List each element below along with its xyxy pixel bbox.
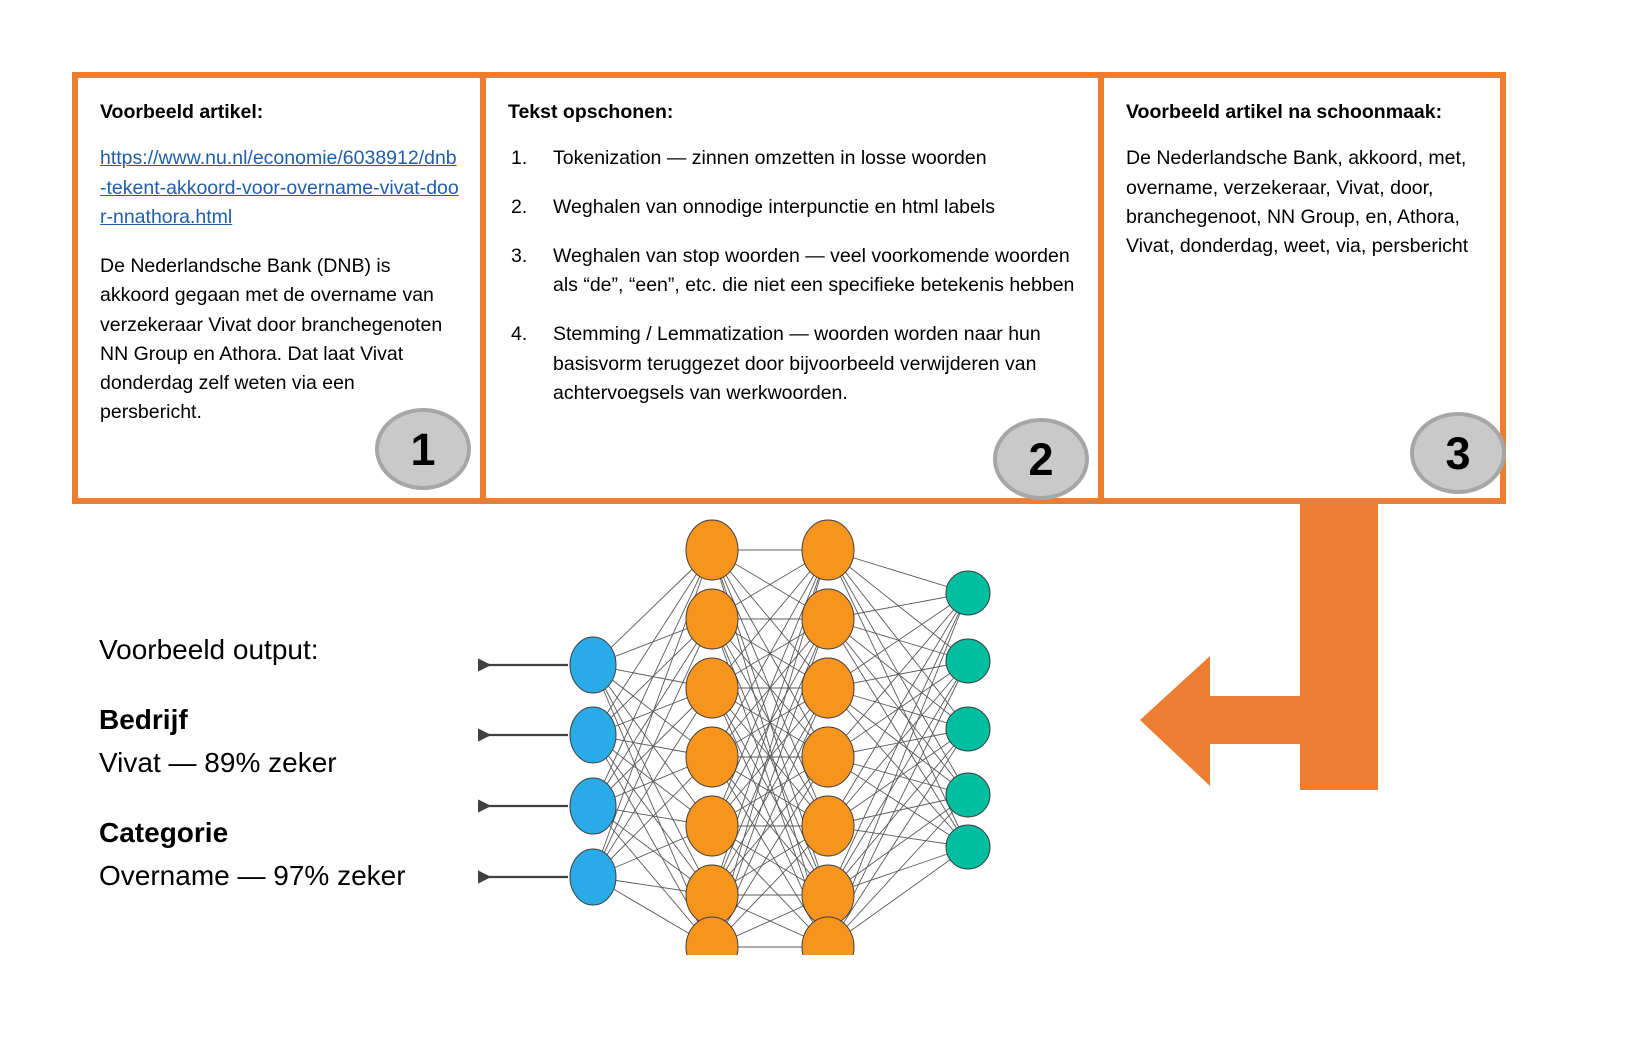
network-node-hidden-layer-2-5	[802, 796, 854, 856]
step-number-badge-3: 3	[1410, 412, 1506, 494]
panel-1-body: De Nederlandsche Bank (DNB) is akkoord g…	[100, 252, 460, 428]
network-node-input-layer-3	[946, 707, 990, 751]
cleaning-steps-list: Tokenization — zinnen omzetten in losse …	[508, 144, 1078, 408]
step-number-badge-1: 1	[375, 408, 471, 490]
step-number-badge-2: 2	[993, 418, 1089, 500]
list-item: Tokenization — zinnen omzetten in losse …	[508, 144, 1078, 174]
network-node-hidden-layer-2-4	[802, 727, 854, 787]
list-item: Weghalen van onnodige interpunctie en ht…	[508, 193, 1078, 223]
network-node-hidden-layer-2-7	[802, 917, 854, 955]
panel-3-title: Voorbeeld artikel na schoonmaak:	[1126, 100, 1480, 124]
output-label-category: Categorie	[99, 815, 499, 851]
network-node-output-arrow-layer-2	[570, 707, 616, 763]
output-arrows	[478, 665, 568, 877]
flow-arrow-icon	[1118, 504, 1518, 790]
network-node-hidden-layer-1-5	[686, 796, 738, 856]
network-node-input-layer-5	[946, 825, 990, 869]
network-node-output-arrow-layer-1	[570, 637, 616, 693]
panel-row: Voorbeeld artikel: https://www.nu.nl/eco…	[72, 72, 1506, 504]
panel-1-title: Voorbeeld artikel:	[100, 100, 460, 124]
network-edge	[593, 688, 712, 877]
network-node-output-arrow-layer-3	[570, 778, 616, 834]
network-node-hidden-layer-1-7	[686, 917, 738, 955]
neural-network-diagram	[460, 495, 1140, 955]
network-node-hidden-layer-1-3	[686, 658, 738, 718]
network-node-hidden-layer-2-6	[802, 865, 854, 925]
output-value-category: Overname — 97% zeker	[99, 858, 499, 894]
network-node-output-arrow-layer-4	[570, 849, 616, 905]
list-item: Weghalen van stop woorden — veel voorkom…	[508, 242, 1078, 301]
flow-arrow	[1118, 504, 1518, 790]
network-node-input-layer-1	[946, 571, 990, 615]
network-node-hidden-layer-1-2	[686, 589, 738, 649]
output-value-company: Vivat — 89% zeker	[99, 745, 499, 781]
network-node-hidden-layer-1-4	[686, 727, 738, 787]
list-item: Stemming / Lemmatization — woorden worde…	[508, 320, 1078, 409]
network-node-input-layer-4	[946, 773, 990, 817]
example-output-block: Voorbeeld output: Bedrijf Vivat — 89% ze…	[99, 632, 499, 894]
network-node-input-layer-2	[946, 639, 990, 683]
neural-network-svg	[460, 495, 1140, 955]
panel-3-body: De Nederlandsche Bank, akkoord, met, ove…	[1126, 144, 1480, 261]
network-node-hidden-layer-2-1	[802, 520, 854, 580]
output-heading: Voorbeeld output:	[99, 632, 499, 668]
network-node-hidden-layer-2-2	[802, 589, 854, 649]
network-node-hidden-layer-1-1	[686, 520, 738, 580]
article-url-link[interactable]: https://www.nu.nl/economie/6038912/dnb-t…	[100, 144, 460, 232]
panel-2-title: Tekst opschonen:	[508, 100, 1078, 124]
network-node-hidden-layer-1-6	[686, 865, 738, 925]
output-label-company: Bedrijf	[99, 702, 499, 738]
network-node-hidden-layer-2-3	[802, 658, 854, 718]
